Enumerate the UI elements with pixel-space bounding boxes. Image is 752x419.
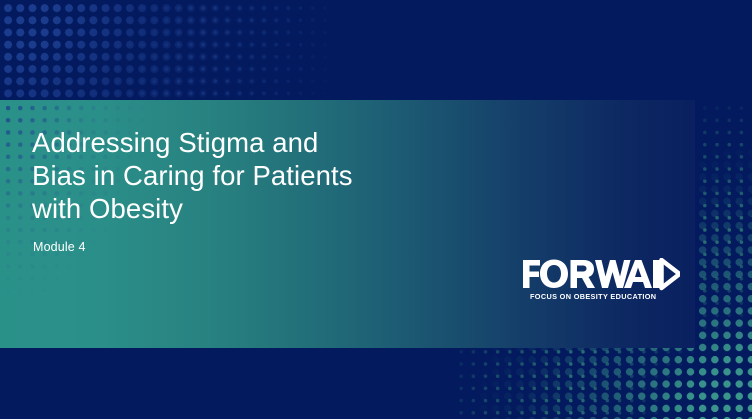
title-line-2: Bias in Caring for Patients — [32, 159, 452, 192]
logo-tagline: FOCUS ON OBESITY EDUCATION — [530, 292, 656, 301]
title-line-1: Addressing Stigma and — [32, 126, 452, 159]
gradient-content-panel: Addressing Stigma and Bias in Caring for… — [0, 100, 695, 348]
module-subtitle: Module 4 — [33, 239, 452, 255]
title-slide: Addressing Stigma and Bias in Caring for… — [0, 0, 752, 419]
play-triangle-icon — [662, 260, 680, 288]
title-line-3: with Obesity — [32, 192, 452, 225]
forward-logo: FOCUS ON OBESITY EDUCATION — [522, 258, 680, 302]
page-title: Addressing Stigma and Bias in Caring for… — [32, 126, 452, 225]
forward-logo-svg: FOCUS ON OBESITY EDUCATION — [522, 258, 680, 302]
title-block: Addressing Stigma and Bias in Caring for… — [32, 126, 452, 255]
